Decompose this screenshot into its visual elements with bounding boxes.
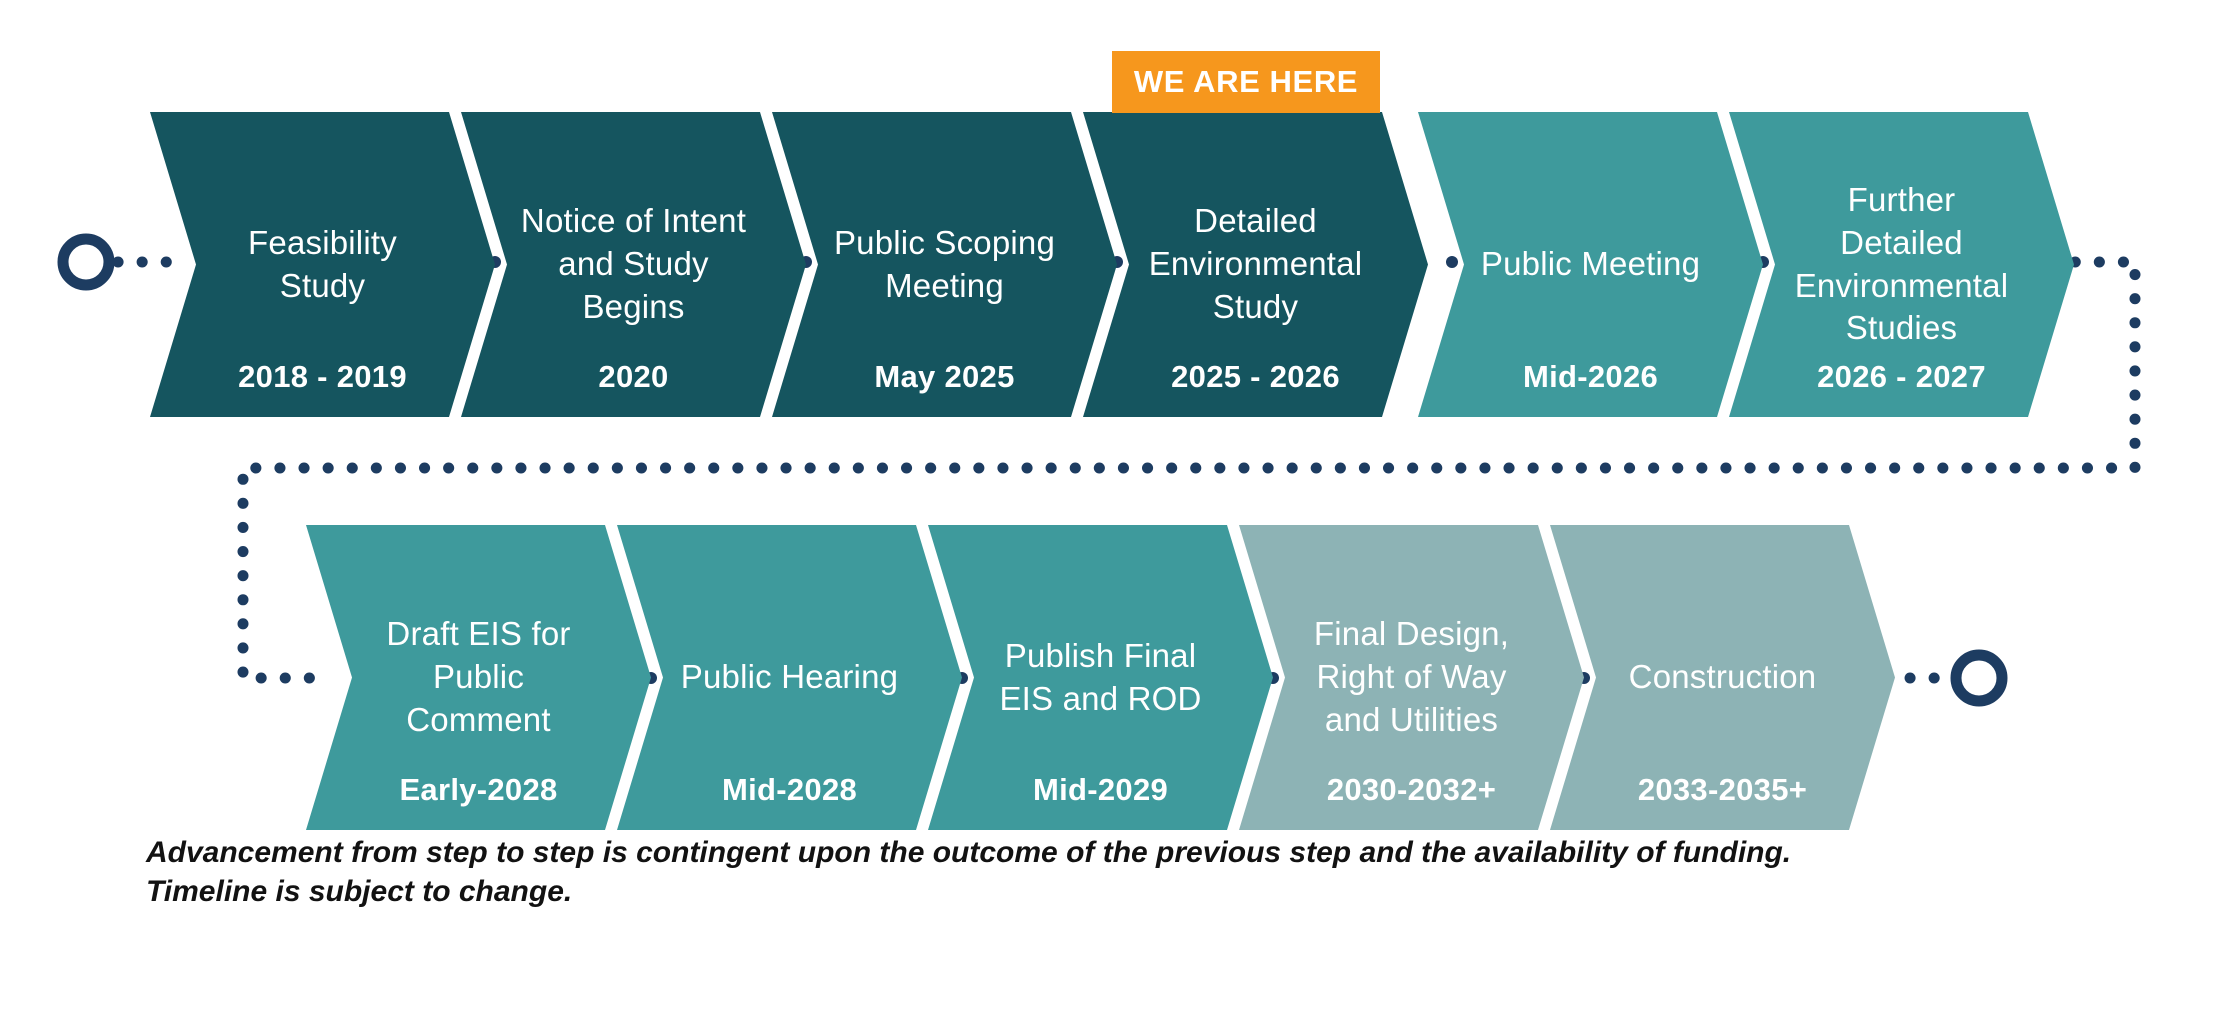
step-date: Mid-2028 xyxy=(617,772,962,808)
step-date: Early-2028 xyxy=(306,772,651,808)
step-title: Further Detailed Environmental Studies xyxy=(1729,179,2074,351)
step-date: Mid-2026 xyxy=(1418,359,1763,395)
step-date: 2020 xyxy=(461,359,806,395)
timeline-step-publish-final-eis-rod[interactable]: Publish Final EIS and ROD Mid-2029 xyxy=(928,525,1273,830)
step-title: Public Scoping Meeting xyxy=(772,222,1117,308)
timeline-step-public-hearing[interactable]: Public Hearing Mid-2028 xyxy=(617,525,962,830)
timeline-step-public-meeting[interactable]: Public Meeting Mid-2026 xyxy=(1418,112,1763,417)
step-title: Final Design, Right of Way and Utilities xyxy=(1239,613,1584,742)
footnote-line-2: Timeline is subject to change. xyxy=(146,872,1946,911)
timeline-step-further-detailed-environmental-studies[interactable]: Further Detailed Environmental Studies 2… xyxy=(1729,112,2074,417)
step-title: Draft EIS for Public Comment xyxy=(306,613,651,742)
timeline-step-detailed-environmental-study[interactable]: Detailed Environmental Study 2025 - 2026 xyxy=(1083,112,1428,417)
step-title: Public Hearing xyxy=(617,656,962,699)
timeline-step-notice-of-intent[interactable]: Notice of Intent and Study Begins 2020 xyxy=(461,112,806,417)
timeline-footnote: Advancement from step to step is conting… xyxy=(146,833,1946,911)
timeline-diagram: Feasibility Study 2018 - 2019 Notice of … xyxy=(0,0,2213,1026)
start-endpoint-circle-icon xyxy=(63,239,109,285)
step-title: Feasibility Study xyxy=(150,222,495,308)
step-title: Publish Final EIS and ROD xyxy=(928,635,1273,721)
timeline-step-public-scoping-meeting[interactable]: Public Scoping Meeting May 2025 xyxy=(772,112,1117,417)
step-title: Construction xyxy=(1550,656,1895,699)
we-are-here-badge: WE ARE HERE xyxy=(1112,51,1380,113)
step-date: 2030-2032+ xyxy=(1239,772,1584,808)
step-title: Public Meeting xyxy=(1418,243,1763,286)
step-date: 2018 - 2019 xyxy=(150,359,495,395)
end-endpoint-circle-icon xyxy=(1956,655,2002,701)
step-title: Detailed Environmental Study xyxy=(1083,200,1428,329)
step-date: 2033-2035+ xyxy=(1550,772,1895,808)
step-title: Notice of Intent and Study Begins xyxy=(461,200,806,329)
timeline-step-construction[interactable]: Construction 2033-2035+ xyxy=(1550,525,1895,830)
timeline-step-final-design-row-utilities[interactable]: Final Design, Right of Way and Utilities… xyxy=(1239,525,1584,830)
footnote-line-1: Advancement from step to step is conting… xyxy=(146,833,1946,872)
timeline-step-draft-eis-public-comment[interactable]: Draft EIS for Public Comment Early-2028 xyxy=(306,525,651,830)
step-date: 2025 - 2026 xyxy=(1083,359,1428,395)
timeline-step-feasibility-study[interactable]: Feasibility Study 2018 - 2019 xyxy=(150,112,495,417)
we-are-here-label: WE ARE HERE xyxy=(1134,64,1358,100)
step-date: Mid-2029 xyxy=(928,772,1273,808)
step-date: 2026 - 2027 xyxy=(1729,359,2074,395)
step-date: May 2025 xyxy=(772,359,1117,395)
